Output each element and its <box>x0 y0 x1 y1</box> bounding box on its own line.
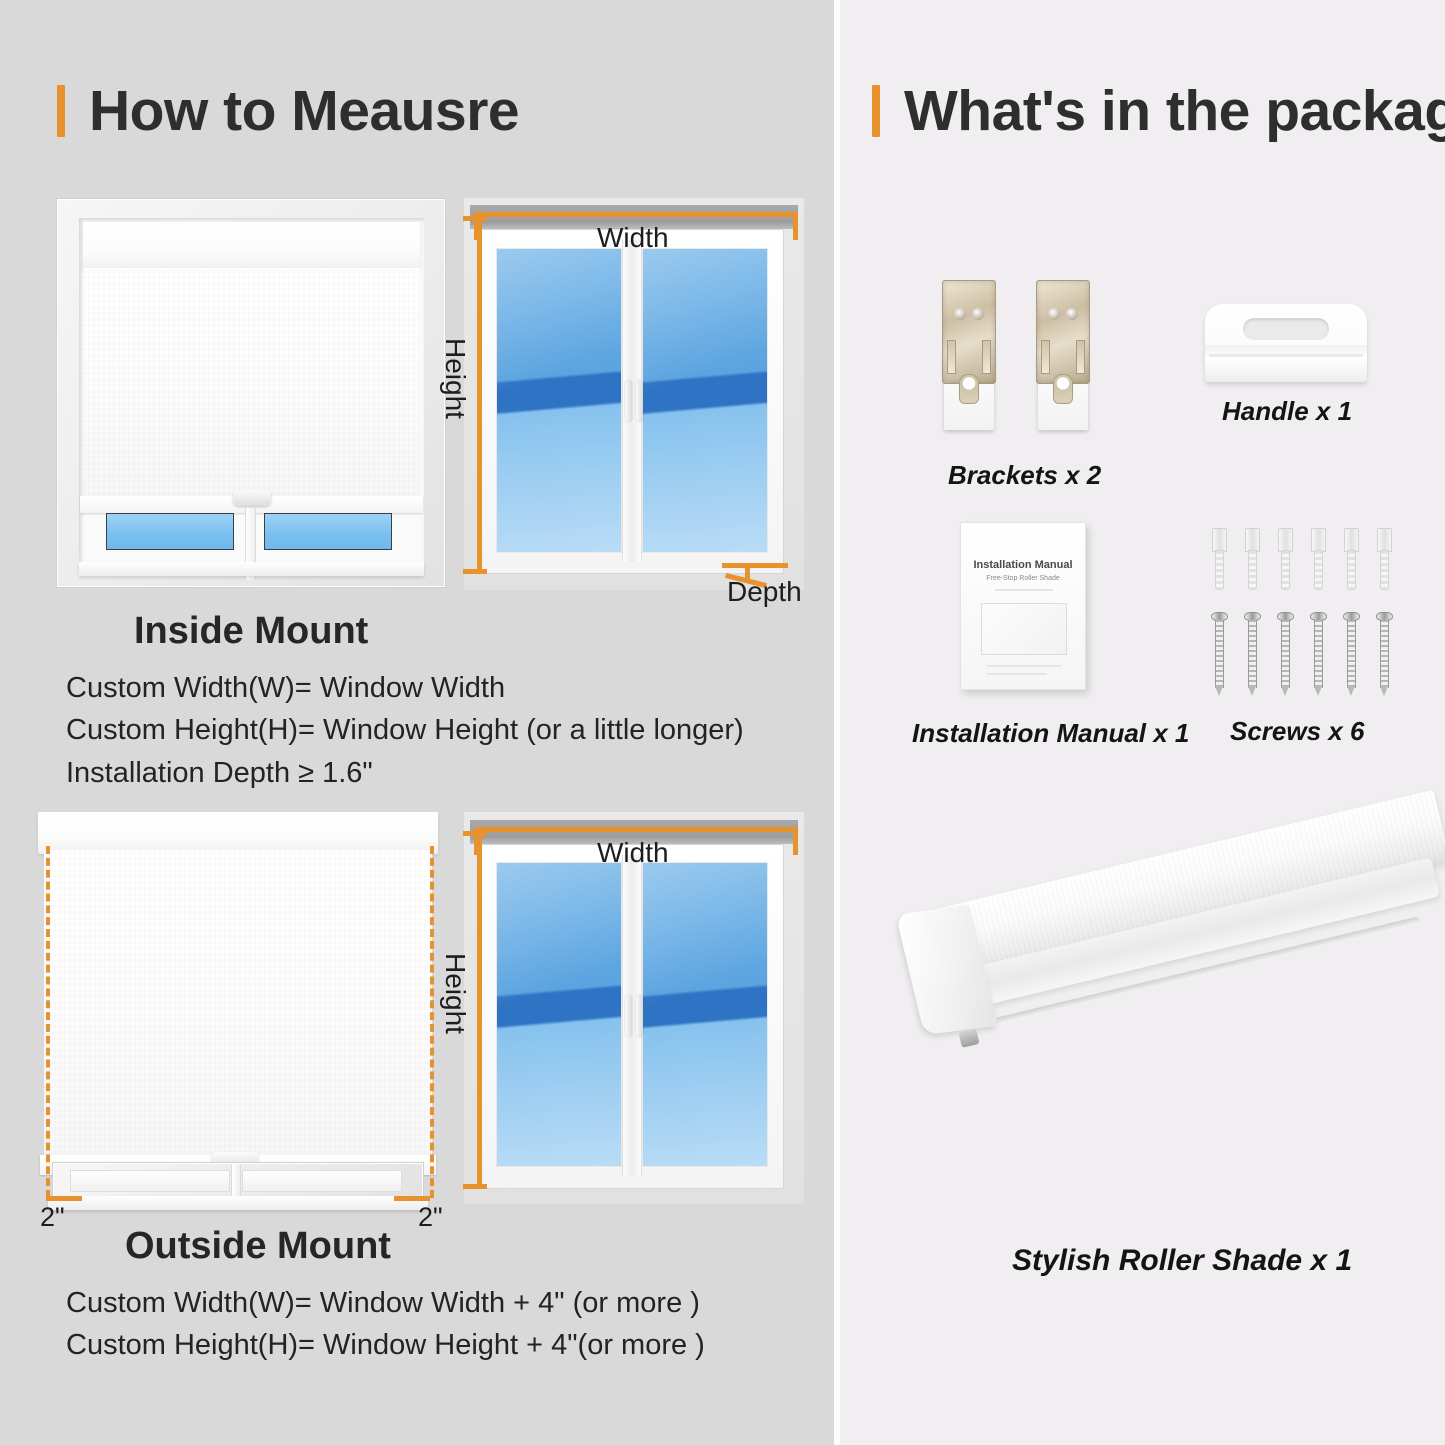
inside-mount-title: Inside Mount <box>134 610 368 653</box>
height-label: Height <box>439 338 471 419</box>
depth-measure-bar <box>722 563 788 568</box>
width-measure-bar <box>474 212 798 217</box>
installation-manual-icon: Installation Manual Free-Stop Roller Sha… <box>960 522 1086 690</box>
roller-shade-label: Stylish Roller Shade x 1 <box>1012 1244 1352 1278</box>
wall-anchor-icon-6 <box>1377 528 1392 590</box>
handle-label: Handle x 1 <box>1222 396 1352 427</box>
how-to-measure-heading: How to Meausre <box>57 78 519 144</box>
heading-label-2: What's in the package <box>904 78 1445 144</box>
wall-anchor-icon-1 <box>1212 528 1227 590</box>
outside-mount-line-1: Custom Width(W)= Window Width + 4" (or m… <box>66 1285 705 1321</box>
accent-bar-icon-2 <box>872 85 880 137</box>
roller-shade-icon <box>900 880 1430 1200</box>
overhang-right-label: 2" <box>418 1202 443 1233</box>
wall-anchor-icon-2 <box>1245 528 1260 590</box>
height-label-2: Height <box>439 953 471 1034</box>
width-label-2: Width <box>597 837 669 869</box>
inside-mount-line-1: Custom Width(W)= Window Width <box>66 670 744 706</box>
inside-mount-line-3: Installation Depth ≥ 1.6" <box>66 755 744 791</box>
wall-anchor-icon-4 <box>1311 528 1326 590</box>
bracket-icon-1 <box>938 278 1000 430</box>
overhang-left-label: 2" <box>40 1202 65 1233</box>
screw-icon-5 <box>1343 612 1360 696</box>
screw-icon-6 <box>1376 612 1393 696</box>
screw-icon-3 <box>1277 612 1294 696</box>
bracket-icon-2 <box>1032 278 1094 430</box>
handle-icon <box>1205 304 1367 382</box>
wall-anchor-icon-3 <box>1278 528 1293 590</box>
wall-anchor-icon-5 <box>1344 528 1359 590</box>
infographic-page: How to Meausre Width Height <box>0 0 1445 1445</box>
screw-icon-1 <box>1211 612 1228 696</box>
width-label: Width <box>597 222 669 254</box>
inside-mount-text: Custom Width(W)= Window Width Custom Hei… <box>66 670 744 797</box>
outside-mount-title: Outside Mount <box>125 1225 391 1268</box>
manual-cover-subtitle: Free-Stop Roller Shade <box>961 575 1085 582</box>
heading-label: How to Meausre <box>89 78 519 144</box>
outside-mount-text: Custom Width(W)= Window Width + 4" (or m… <box>66 1285 705 1370</box>
accent-bar-icon <box>57 85 65 137</box>
inside-mount-line-2: Custom Height(H)= Window Height (or a li… <box>66 712 744 748</box>
overhang-guide-right <box>430 846 434 1198</box>
brackets-label: Brackets x 2 <box>948 460 1101 491</box>
whats-in-package-heading: What's in the package <box>872 78 1445 144</box>
outside-mount-line-2: Custom Height(H)= Window Height + 4"(or … <box>66 1327 705 1363</box>
overhang-guide-left <box>46 846 50 1198</box>
height-measure-bar <box>477 216 482 574</box>
manual-cover-title: Installation Manual <box>961 559 1085 571</box>
screws-label: Screws x 6 <box>1230 716 1364 747</box>
depth-label: Depth <box>727 576 802 608</box>
screw-icon-2 <box>1244 612 1261 696</box>
shade-pull-handle-icon <box>233 490 271 506</box>
manual-label: Installation Manual x 1 <box>912 718 1189 749</box>
screw-icon-4 <box>1310 612 1327 696</box>
